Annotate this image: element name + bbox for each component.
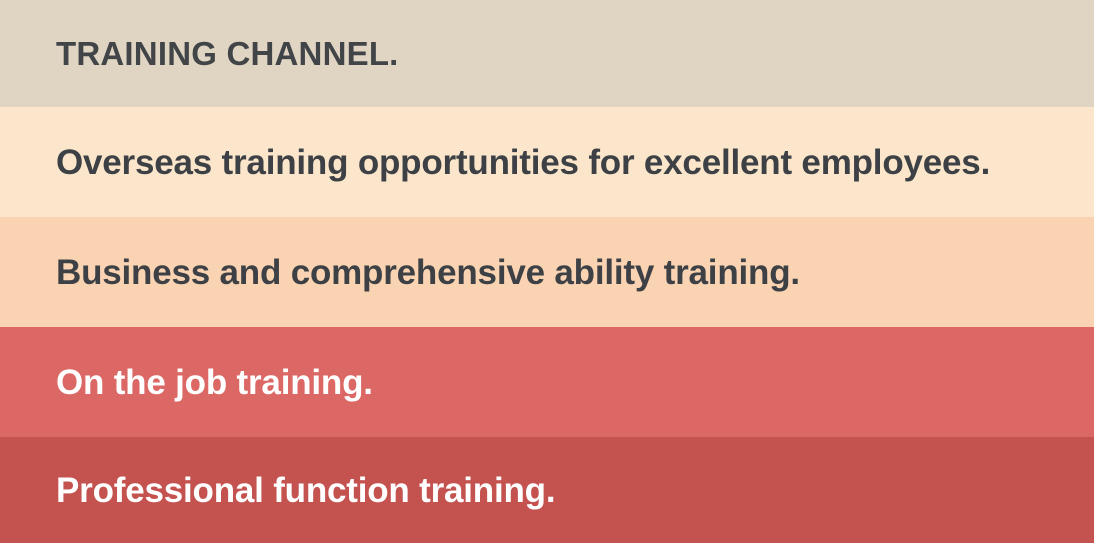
training-level-overseas[interactable]: Overseas training opportunities for exce…: [0, 107, 1094, 217]
training-level-label: Business and comprehensive ability train…: [56, 255, 800, 290]
training-level-on-the-job[interactable]: On the job training.: [0, 327, 1094, 437]
training-level-label: Overseas training opportunities for exce…: [56, 145, 990, 180]
page-title: TRAINING CHANNEL.: [56, 37, 399, 70]
training-channel-panel: TRAINING CHANNEL. Overseas training oppo…: [0, 0, 1094, 544]
training-level-label: On the job training.: [56, 365, 373, 400]
training-channel-header: TRAINING CHANNEL.: [0, 0, 1094, 107]
training-level-professional-function[interactable]: Professional function training.: [0, 437, 1094, 543]
training-level-label: Professional function training.: [56, 473, 555, 508]
training-level-business-comprehensive[interactable]: Business and comprehensive ability train…: [0, 217, 1094, 327]
